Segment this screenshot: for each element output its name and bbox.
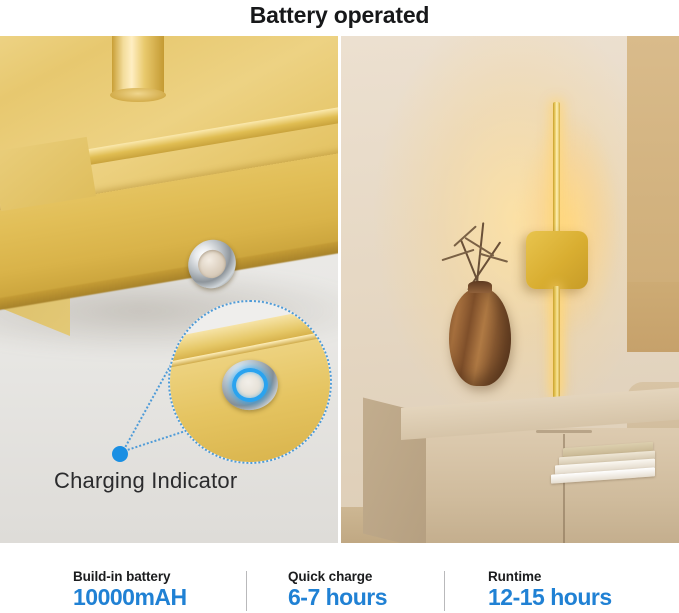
- magnifier-callout: [168, 300, 332, 464]
- spec-label: Quick charge: [288, 569, 387, 584]
- magnifier-contents: [170, 302, 330, 462]
- spec-value: 12-15 hours: [488, 585, 612, 610]
- spec-item-runtime: Runtime 12-15 hours: [488, 569, 612, 610]
- callout-dot-marker: [112, 446, 128, 462]
- spec-value: 6-7 hours: [288, 585, 387, 610]
- sconce-wall-plate: [526, 231, 588, 289]
- sconce-light-glow: [489, 70, 649, 380]
- spec-item-quick-charge: Quick charge 6-7 hours: [288, 569, 387, 610]
- right-lifestyle-image: [341, 36, 679, 543]
- wooden-vase-neck: [468, 281, 492, 293]
- wooden-vase: [449, 288, 511, 386]
- infographic-root: Battery operated: [0, 0, 679, 613]
- spec-label: Build-in battery: [73, 569, 187, 584]
- spec-divider: [444, 571, 445, 611]
- spec-divider: [246, 571, 247, 611]
- image-panels: Charging Indicator: [0, 36, 679, 543]
- page-title: Battery operated: [0, 2, 679, 29]
- callout-label: Charging Indicator: [54, 468, 237, 494]
- spec-bar: Build-in battery 10000mAH Quick charge 6…: [0, 556, 679, 613]
- spec-item-battery: Build-in battery 10000mAH: [73, 569, 187, 610]
- spec-label: Runtime: [488, 569, 612, 584]
- left-product-image: Charging Indicator: [0, 36, 338, 543]
- spec-value: 10000mAH: [73, 585, 187, 610]
- sideboard-handle: [536, 430, 592, 433]
- charging-indicator-ring-icon: [230, 366, 270, 405]
- lamp-pole-foot: [110, 88, 166, 102]
